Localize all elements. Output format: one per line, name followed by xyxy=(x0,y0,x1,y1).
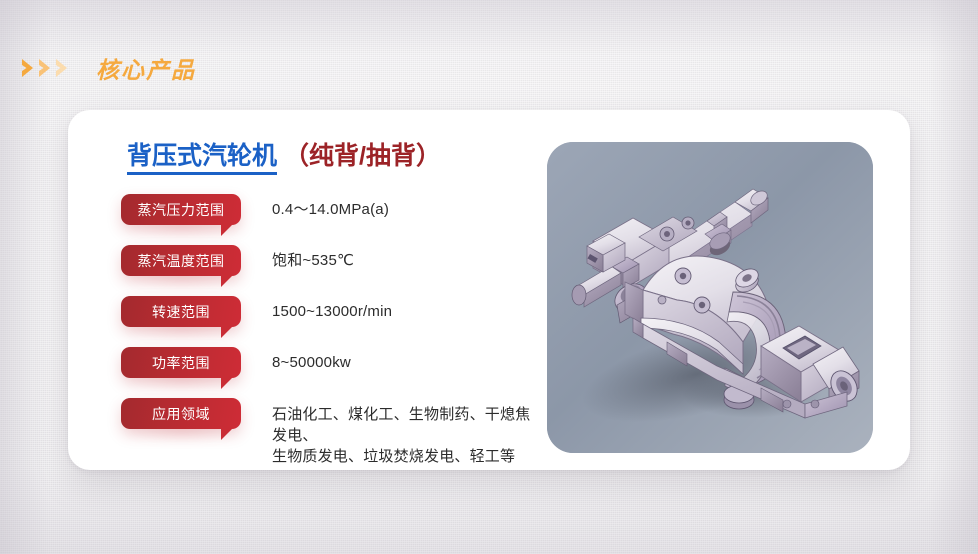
spec-row: 应用领域 石油化工、煤化工、生物制药、干熄焦发电、 生物质发电、垃圾焚烧发电、轻… xyxy=(68,398,538,458)
spec-label-text: 应用领域 xyxy=(152,407,210,421)
spec-row: 转速范围 1500~13000r/min xyxy=(68,296,538,347)
spec-value-text: 8~50000kw xyxy=(272,347,351,373)
slide-root: 核心产品 背压式汽轮机（纯背/抽背） 蒸汽压力范围 0.4～14.0MP xyxy=(0,0,978,554)
chevron-right-icon-1 xyxy=(20,57,36,79)
spec-label-wrap: 转速范围 xyxy=(121,296,241,327)
badge-tail-icon xyxy=(221,376,234,389)
spec-label-wrap: 蒸汽压力范围 xyxy=(121,194,241,225)
spec-label-badge: 蒸汽压力范围 xyxy=(121,194,241,225)
spec-label-wrap: 应用领域 xyxy=(121,398,241,429)
spec-label-text: 功率范围 xyxy=(152,356,210,370)
spec-label-badge: 转速范围 xyxy=(121,296,241,327)
spec-value-text: 饱和~535℃ xyxy=(272,245,354,271)
chevron-group xyxy=(20,57,70,79)
section-header: 核心产品 xyxy=(20,48,196,88)
spec-label-badge: 应用领域 xyxy=(121,398,241,429)
spec-label-wrap: 功率范围 xyxy=(121,347,241,378)
spec-row: 蒸汽温度范围 饱和~535℃ xyxy=(68,245,538,296)
product-card: 背压式汽轮机（纯背/抽背） 蒸汽压力范围 0.4～14.0MPa(a) xyxy=(68,110,910,470)
spec-value-text: 1500~13000r/min xyxy=(272,296,392,322)
spec-label-text: 蒸汽温度范围 xyxy=(138,254,225,268)
badge-tail-icon xyxy=(221,427,234,440)
spec-row: 功率范围 8~50000kw xyxy=(68,347,538,398)
spec-label-wrap: 蒸汽温度范围 xyxy=(121,245,241,276)
product-title: 背压式汽轮机（纯背/抽背） xyxy=(127,144,441,169)
product-title-main: 背压式汽轮机 xyxy=(127,142,277,175)
spec-row: 蒸汽压力范围 0.4～14.0MPa(a) xyxy=(68,194,538,245)
section-title: 核心产品 xyxy=(96,51,196,85)
spec-list: 蒸汽压力范围 0.4～14.0MPa(a) 蒸汽温度范围 xyxy=(68,194,538,458)
product-image-panel: back-pressure-steam-turbine-3d-render xyxy=(547,142,873,453)
spec-column: 背压式汽轮机（纯背/抽背） 蒸汽压力范围 0.4～14.0MPa(a) xyxy=(68,110,538,470)
spec-label-text: 转速范围 xyxy=(152,305,210,319)
spec-label-badge: 功率范围 xyxy=(121,347,241,378)
chevron-right-icon-2 xyxy=(37,57,53,79)
chevron-right-icon-3 xyxy=(54,57,70,79)
spec-label-badge: 蒸汽温度范围 xyxy=(121,245,241,276)
spec-value-text: 石油化工、煤化工、生物制药、干熄焦发电、 生物质发电、垃圾焚烧发电、轻工等 xyxy=(272,398,538,467)
badge-tail-icon xyxy=(221,325,234,338)
back-pressure-steam-turbine-3d-render xyxy=(547,142,873,453)
badge-tail-icon xyxy=(221,274,234,287)
product-title-suffix: （纯背/抽背） xyxy=(284,142,441,170)
spec-label-text: 蒸汽压力范围 xyxy=(138,203,225,217)
badge-tail-icon xyxy=(221,223,234,236)
spec-value-text: 0.4～14.0MPa(a) xyxy=(272,194,389,220)
